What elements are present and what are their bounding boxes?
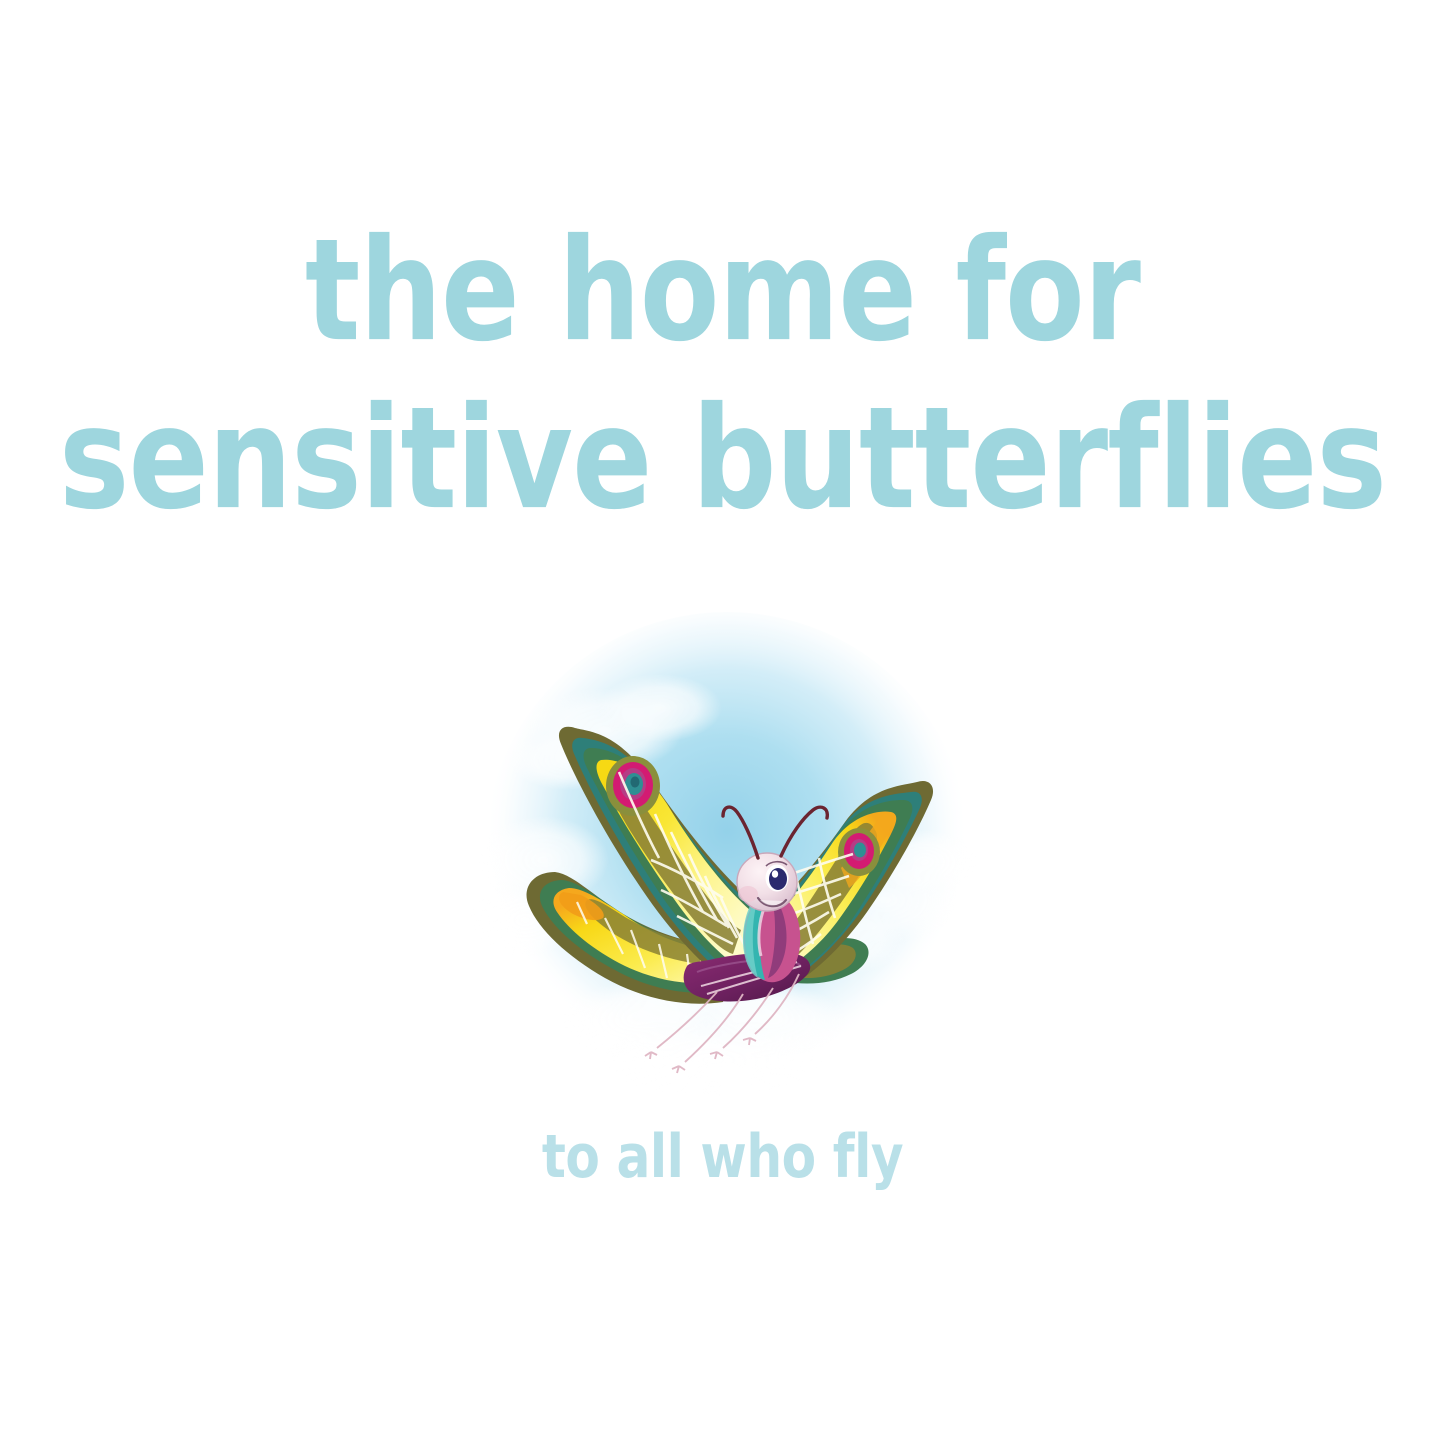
butterfly-head — [737, 853, 797, 911]
subtitle: to all who fly — [51, 1122, 1395, 1191]
title-line-1: the home for — [58, 217, 1387, 365]
cover-page: the home for sensitive butterflies — [0, 0, 1445, 1445]
butterfly-in-sky-illustration — [455, 600, 995, 1100]
title-line-2: sensitive butterflies — [43, 385, 1401, 533]
page-title: the home for sensitive butterflies — [0, 225, 1445, 526]
right-wing-eyespot — [838, 828, 880, 876]
